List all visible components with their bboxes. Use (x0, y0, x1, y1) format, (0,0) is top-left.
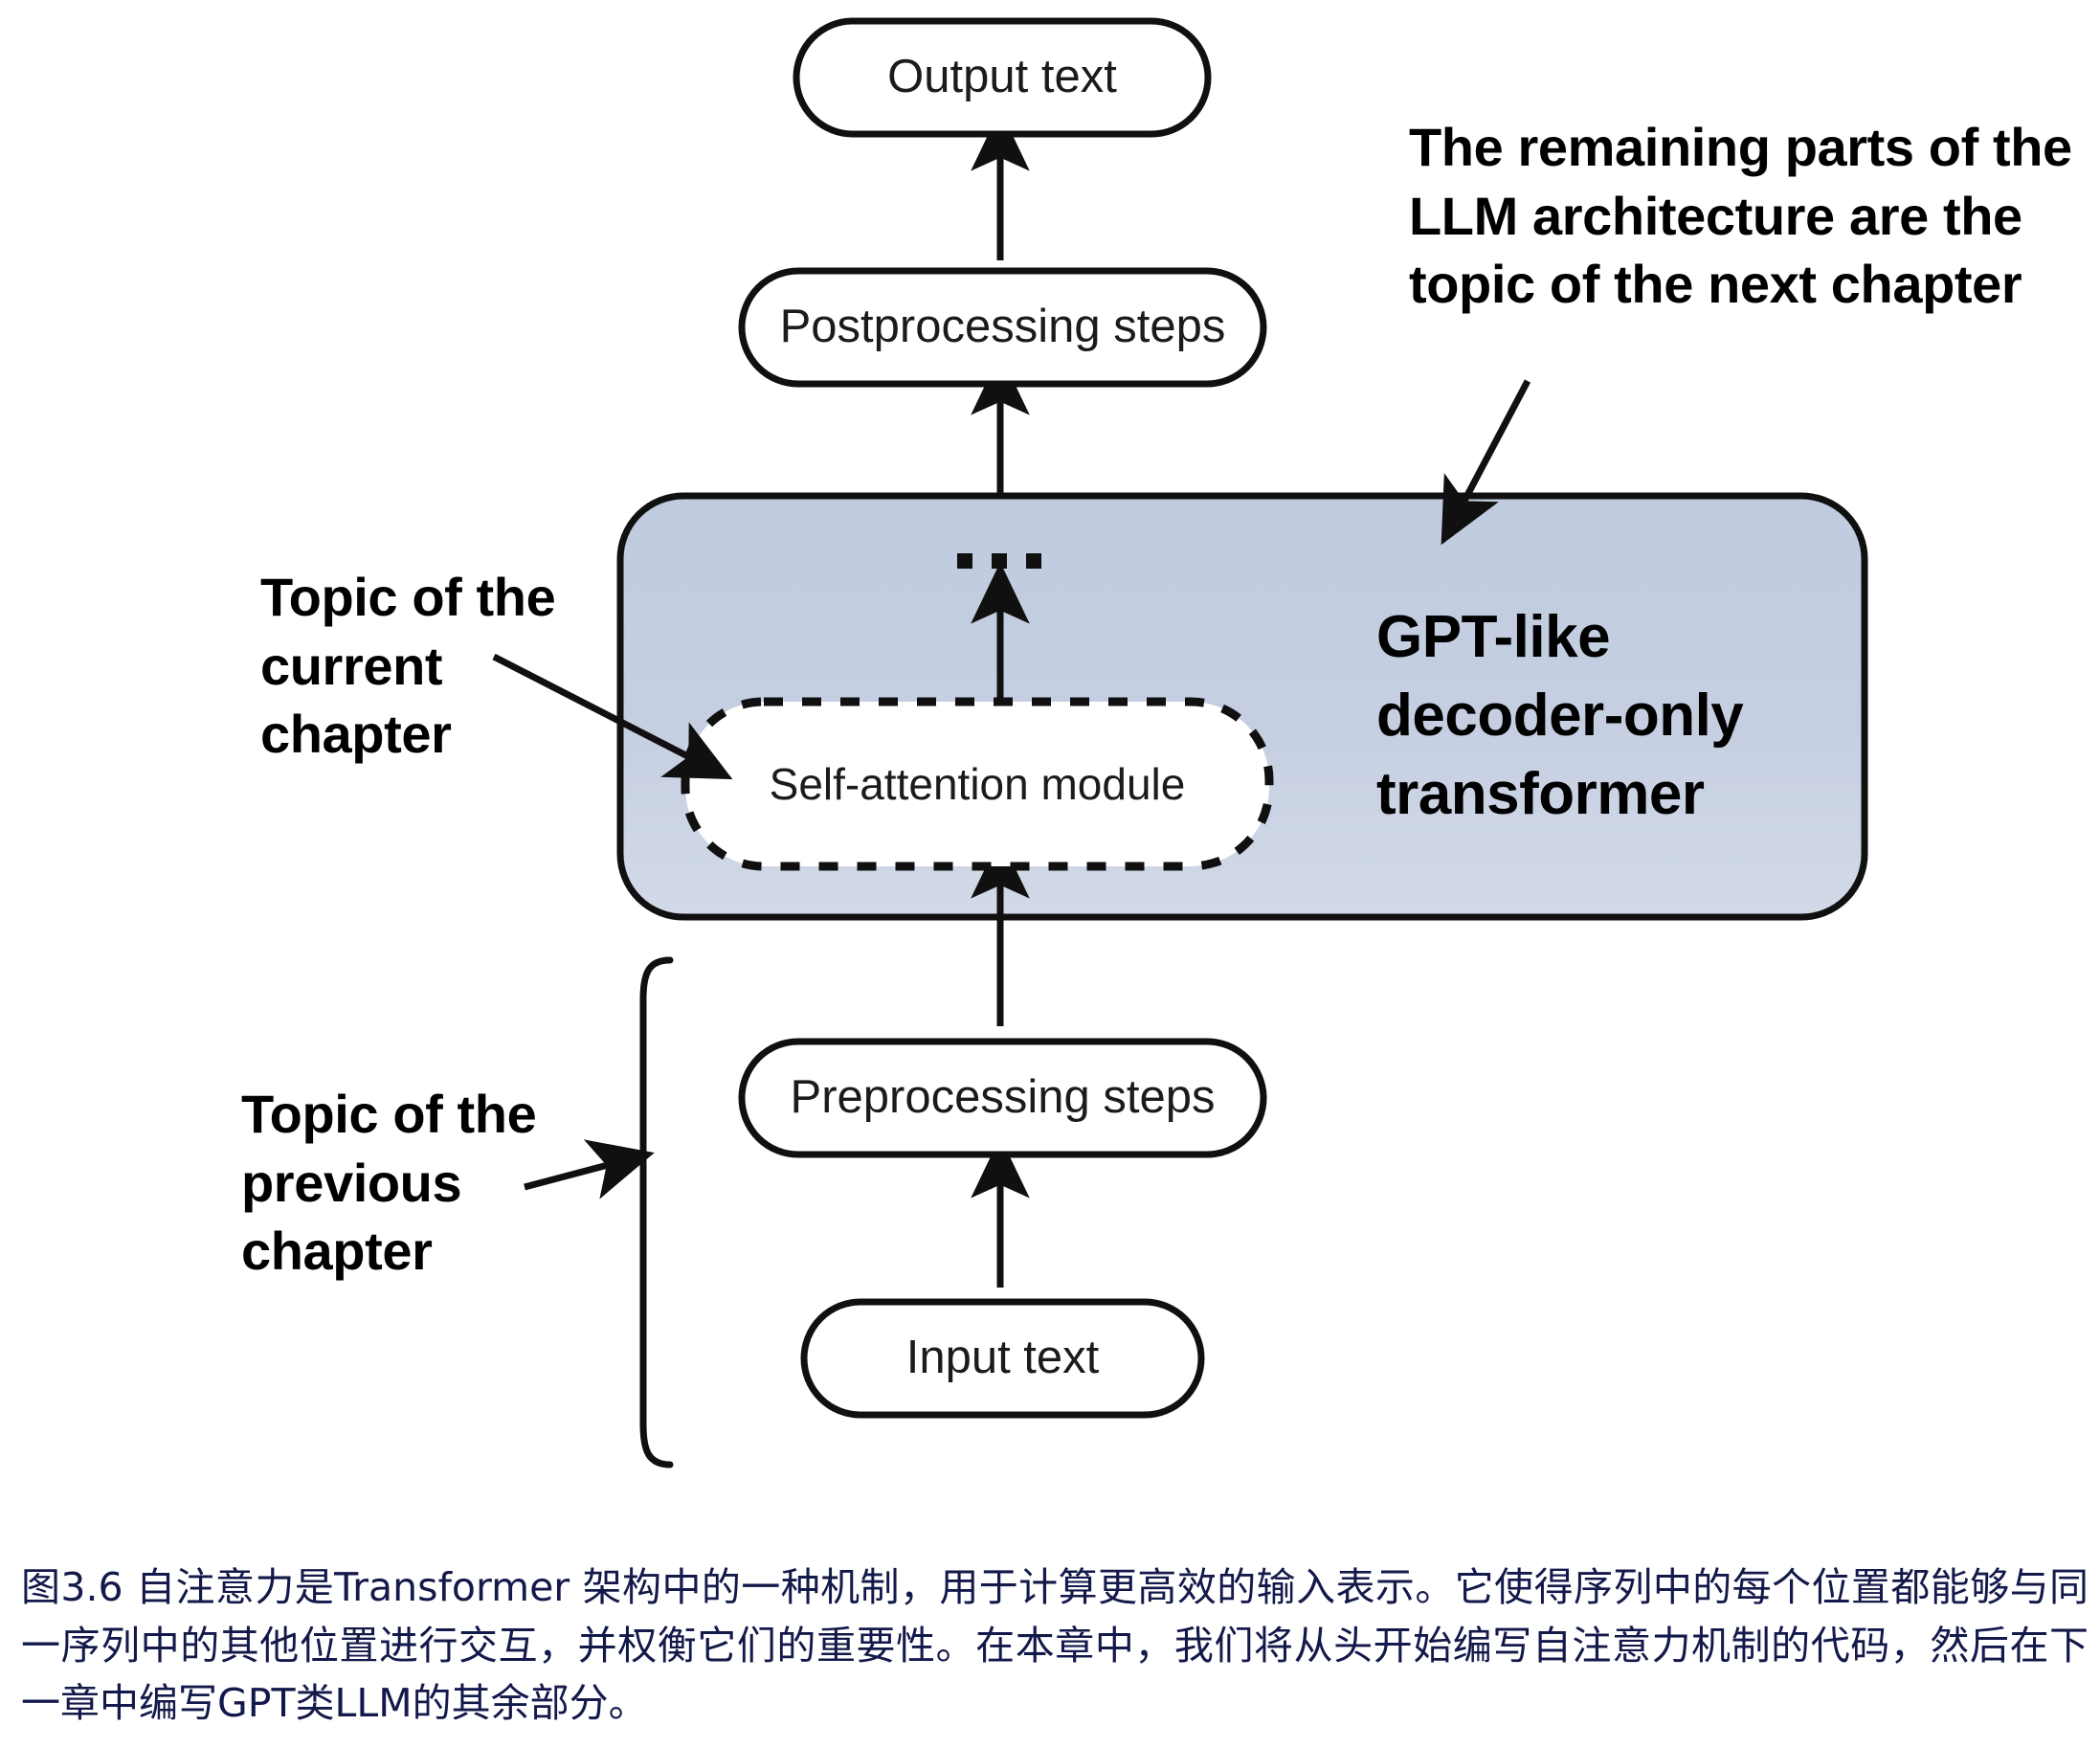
postprocessing-label: Postprocessing steps (742, 303, 1263, 350)
self-attention-label: Self-attention module (685, 762, 1269, 806)
input-text-label: Input text (804, 1334, 1201, 1381)
annotation-current-chapter-line-2: current (260, 632, 662, 701)
annotation-current-chapter: Topic of the current chapter (260, 563, 662, 769)
annotation-transformer-line-1: GPT-like (1376, 598, 1874, 677)
annotation-previous-chapter-line-2: previous (241, 1149, 653, 1218)
figure-root: Output text Postprocessing steps Self-at… (0, 0, 2100, 1748)
annotation-transformer-line-2: decoder-only (1376, 677, 1874, 755)
annotation-current-chapter-line-3: chapter (260, 700, 662, 769)
output-text-label: Output text (796, 54, 1208, 101)
annotation-previous-chapter-line-3: chapter (241, 1217, 653, 1286)
annotation-previous-chapter: Topic of the previous chapter (241, 1080, 653, 1286)
annotation-current-chapter-line-1: Topic of the (260, 563, 662, 632)
annotation-next-chapter-line-3: topic of the next chapter (1409, 250, 2098, 319)
annotation-next-chapter-line-2: LLM architecture are the (1409, 182, 2098, 251)
annotation-next-chapter: The remaining parts of the LLM architect… (1409, 113, 2098, 319)
annotation-previous-chapter-line-1: Topic of the (241, 1080, 653, 1149)
preprocessing-label: Preprocessing steps (742, 1074, 1263, 1121)
annotation-transformer-block: GPT-like decoder-only transformer (1376, 598, 1874, 833)
ellipsis-icon (957, 553, 1041, 569)
annotation-next-chapter-line-1: The remaining parts of the (1409, 113, 2098, 182)
annotation-transformer-line-3: transformer (1376, 755, 1874, 834)
figure-caption: 图3.6 自注意力是Transformer 架构中的一种机制，用于计算更高效的输… (21, 1558, 2089, 1733)
